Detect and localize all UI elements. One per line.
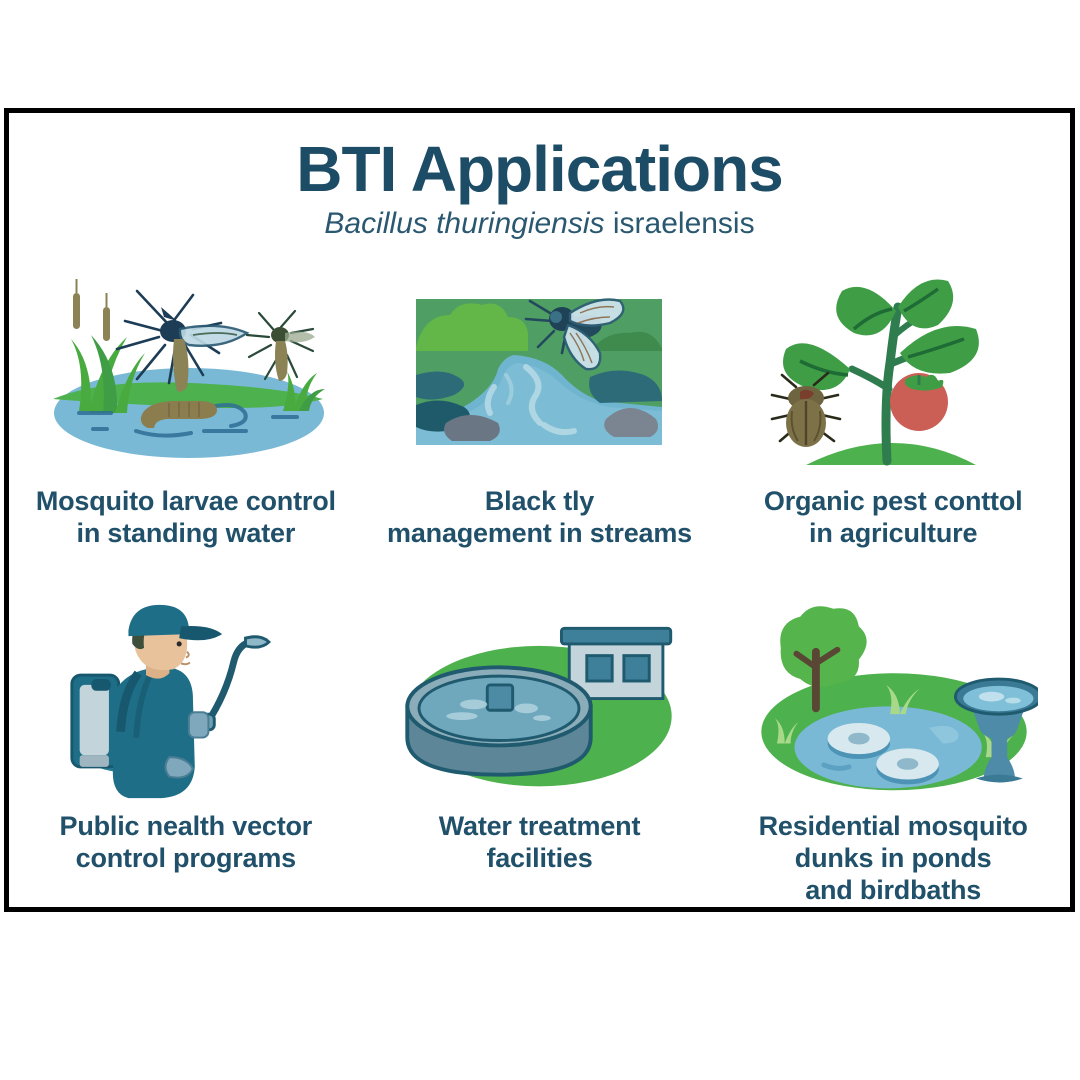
application-card-water-treatment: Water treatment facilities xyxy=(363,601,717,931)
plant-leaves xyxy=(783,279,979,390)
caption-public-health: Public nealth vector control programs xyxy=(17,811,355,875)
subtitle-genus-species: Bacillus thuringiensis xyxy=(324,207,604,240)
application-card-residential-dunks: Residential mosquito dunks in ponds and … xyxy=(716,601,1070,931)
caption-line: Black tly xyxy=(371,486,709,518)
tomato-plant-with-beetle-illustration xyxy=(748,271,1038,476)
worker-with-backpack-sprayer-illustration xyxy=(41,601,331,801)
application-card-public-health: Public nealth vector control programs xyxy=(9,601,363,931)
small-mosquito xyxy=(247,311,315,381)
backpack-sprayer-tank xyxy=(72,675,119,767)
caption-line: and birdbaths xyxy=(724,875,1062,907)
poster-frame: BTI Applications Bacillus thuringiensis … xyxy=(4,108,1075,912)
application-card-black-fly: Black tly management in streams xyxy=(363,271,717,601)
poster-header: BTI Applications Bacillus thuringiensis … xyxy=(9,137,1070,239)
stream-with-black-fly-illustration xyxy=(394,271,684,476)
tomato-fruit xyxy=(890,373,948,431)
garden-pond-with-dunks-and-birdbath-illustration xyxy=(748,601,1038,801)
circular-treatment-tank xyxy=(408,667,591,774)
caption-water-treatment: Water treatment facilities xyxy=(371,811,709,875)
subtitle-subspecies: israelensis xyxy=(613,207,755,240)
caption-line: facilities xyxy=(371,843,709,875)
page-subtitle: Bacillus thuringiensis israelensis xyxy=(9,209,1070,239)
caption-organic-pest: Organic pest conttol in agriculture xyxy=(724,486,1062,550)
treatment-tank-with-building-illustration xyxy=(394,601,684,801)
page-title: BTI Applications xyxy=(9,137,1070,201)
caption-black-fly: Black tly management in streams xyxy=(371,486,709,550)
caption-line: Mosquito larvae control xyxy=(17,486,355,518)
application-card-mosquito-larvae: Mosquito larvae control in standing wate… xyxy=(9,271,363,601)
application-card-organic-pest: Organic pest conttol in agriculture xyxy=(716,271,1070,601)
caption-mosquito-larvae: Mosquito larvae control in standing wate… xyxy=(17,486,355,550)
caption-line: in agriculture xyxy=(724,518,1062,550)
infographic-poster: BTI Applications Bacillus thuringiensis … xyxy=(0,0,1080,1080)
caption-line: Public nealth vector xyxy=(17,811,355,843)
caption-line: Organic pest conttol xyxy=(724,486,1062,518)
caption-line: in standing water xyxy=(17,518,355,550)
caption-line: Water treatment xyxy=(371,811,709,843)
pond-with-mosquito-and-larva-illustration xyxy=(41,271,331,476)
caption-line: management in streams xyxy=(371,518,709,550)
applications-grid: Mosquito larvae control in standing wate… xyxy=(9,271,1070,931)
caption-line: Residential mosquito xyxy=(724,811,1062,843)
caption-line: dunks in ponds xyxy=(724,843,1062,875)
caption-line: control programs xyxy=(17,843,355,875)
caption-residential-dunks: Residential mosquito dunks in ponds and … xyxy=(724,811,1062,907)
